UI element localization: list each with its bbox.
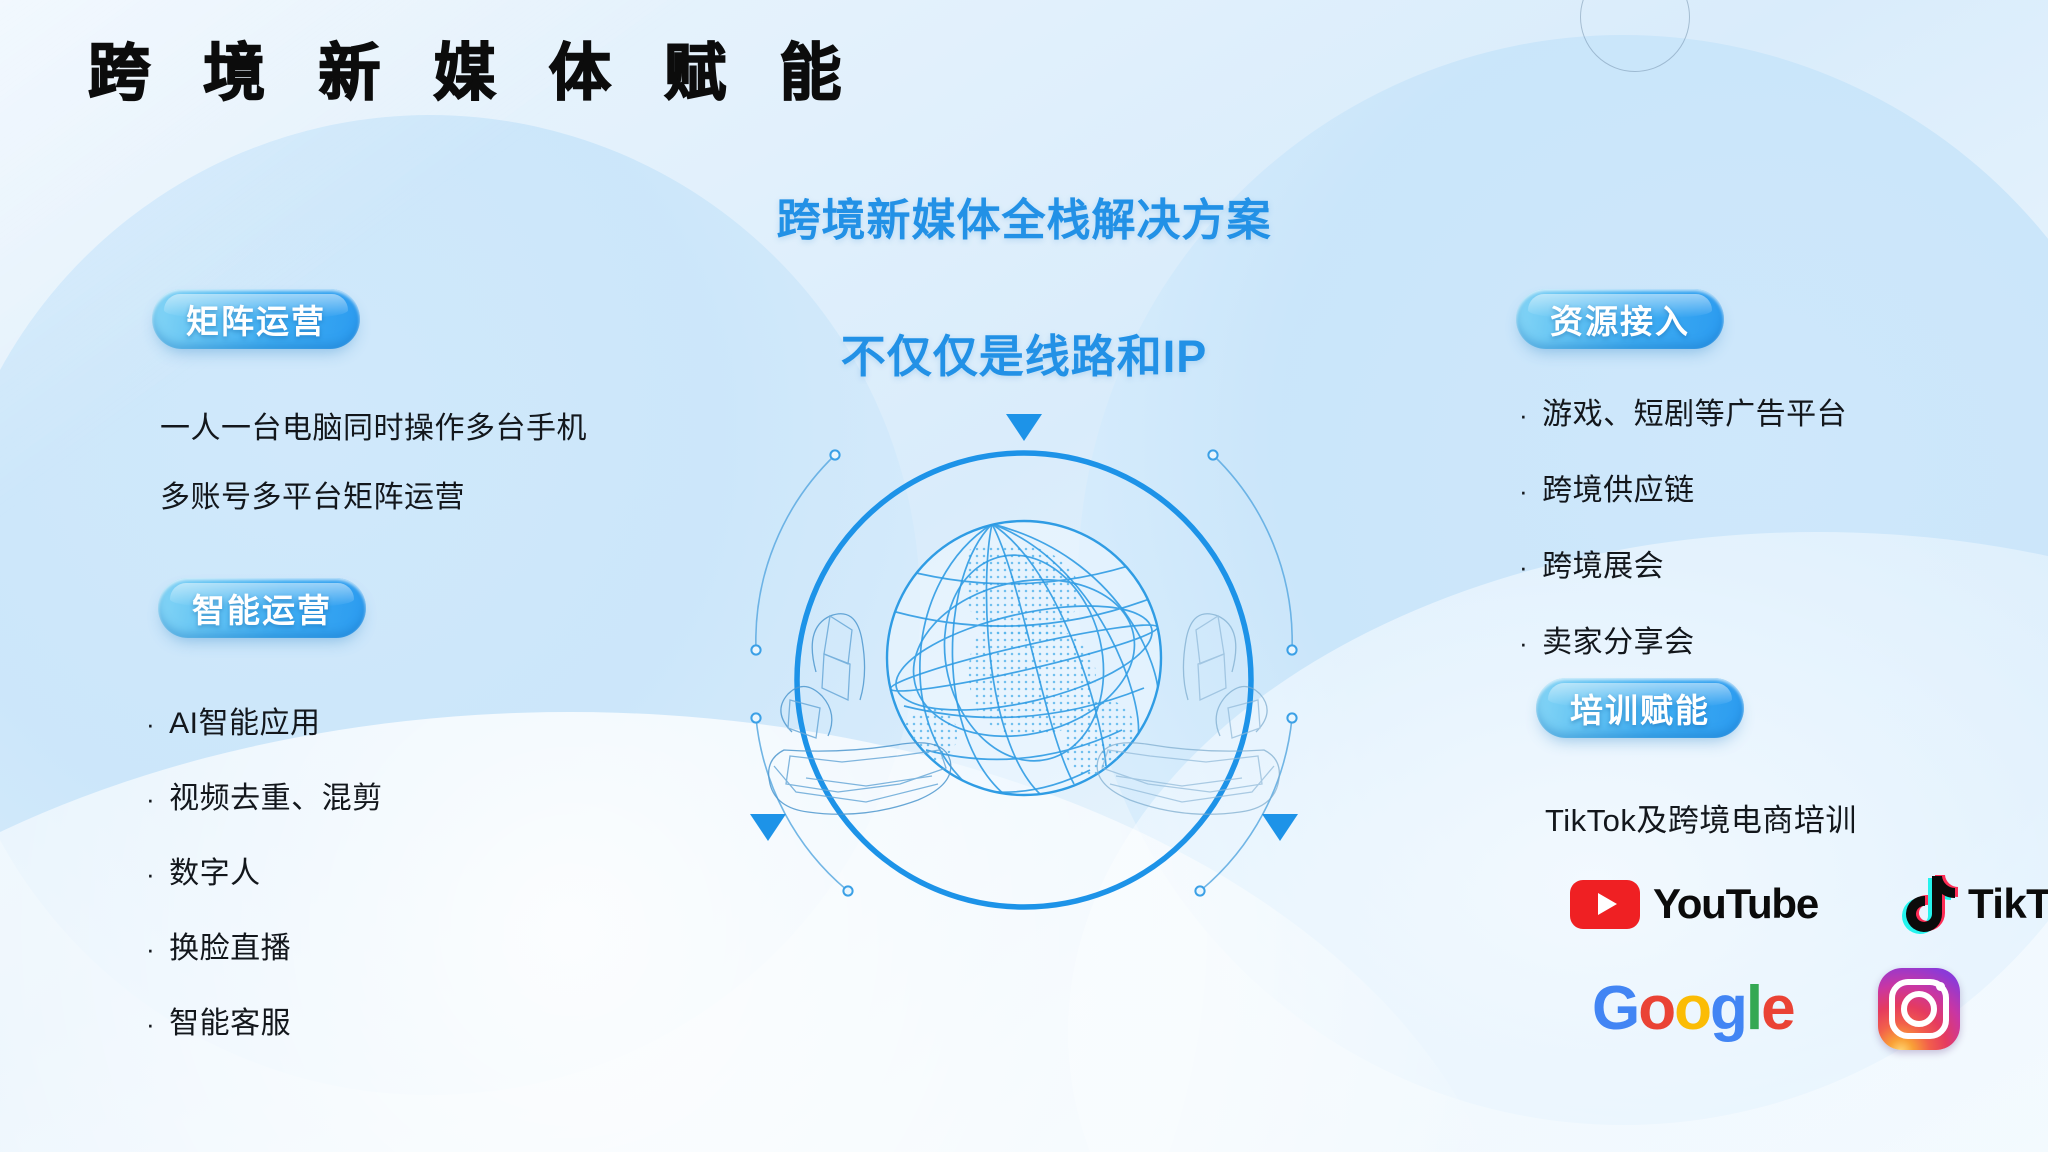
bullet-dot-icon: · <box>1519 630 1528 656</box>
bullet-dot-icon: · <box>1519 478 1528 504</box>
tiktok-logo[interactable]: TikTok <box>1902 874 2048 934</box>
bullet-dot-icon: · <box>146 936 155 962</box>
list-item: · AI智能应用 <box>146 698 383 742</box>
youtube-play-icon <box>1570 880 1640 929</box>
right-resource-list: · 游戏、短剧等广告平台 · 跨境供应链 · 跨境展会 · 卖家分享会 <box>1519 389 1847 661</box>
list-item: · 跨境展会 <box>1519 541 1847 585</box>
pill-resource-access[interactable]: 资源接入 <box>1516 289 1724 349</box>
google-letter-3: o <box>1674 974 1710 1043</box>
pill-label: 智能运营 <box>192 584 332 632</box>
list-item-label: 视频去重、混剪 <box>169 773 383 817</box>
list-item: · 换脸直播 <box>146 923 383 967</box>
list-item-label: 换脸直播 <box>169 923 291 967</box>
list-item-label: AI智能应用 <box>169 698 320 742</box>
google-letter-5: l <box>1746 974 1761 1043</box>
logo-row-top: YouTube TikTok <box>1570 874 2048 934</box>
list-item-label: 卖家分享会 <box>1542 617 1695 661</box>
training-description: TikTok及跨境电商培训 <box>1545 795 1857 840</box>
bullet-dot-icon: · <box>146 1011 155 1037</box>
bullet-dot-icon: · <box>146 786 155 812</box>
instagram-logo[interactable] <box>1878 968 1960 1050</box>
list-item: · 数字人 <box>146 848 383 892</box>
list-item: · 视频去重、混剪 <box>146 773 383 817</box>
pill-label: 培训赋能 <box>1570 684 1710 732</box>
pill-smart-operations[interactable]: 智能运营 <box>158 578 366 638</box>
center-heading-primary: 跨境新媒体全栈解决方案 <box>0 184 2048 248</box>
youtube-logo[interactable]: YouTube <box>1570 880 1818 929</box>
list-item-label: 游戏、短剧等广告平台 <box>1542 389 1847 433</box>
left-text-line-2: 多账号多平台矩阵运营 <box>160 472 465 516</box>
wireframe-globe <box>868 521 1162 796</box>
tiktok-note-icon <box>1902 874 1958 934</box>
globe-in-hands-illustration <box>744 400 1304 960</box>
left-text-line-1: 一人一台电脑同时操作多台手机 <box>160 403 587 447</box>
list-item-label: 数字人 <box>169 848 261 892</box>
pill-label: 资源接入 <box>1550 295 1690 343</box>
google-letter-1: G <box>1592 974 1638 1043</box>
tiktok-wordmark: TikTok <box>1968 880 2048 928</box>
list-item-label: 智能客服 <box>169 998 291 1042</box>
google-letter-4: g <box>1710 974 1746 1043</box>
bullet-dot-icon: · <box>146 861 155 887</box>
list-item: · 智能客服 <box>146 998 383 1042</box>
pill-training-empowerment[interactable]: 培训赋能 <box>1536 678 1744 738</box>
instagram-camera-icon <box>1889 979 1949 1039</box>
left-feature-list: · AI智能应用 · 视频去重、混剪 · 数字人 · 换脸直播 · 智能客服 <box>146 698 383 1042</box>
youtube-wordmark: YouTube <box>1653 880 1818 928</box>
page-title: 跨 境 新 媒 体 赋 能 <box>88 38 859 109</box>
logo-row-bottom: Google <box>1592 968 1960 1050</box>
list-item: · 跨境供应链 <box>1519 465 1847 509</box>
list-item: · 卖家分享会 <box>1519 617 1847 661</box>
slide-root: 跨 境 新 媒 体 赋 能 跨境新媒体全栈解决方案 不仅仅是线路和IP <box>0 0 2048 1152</box>
bullet-dot-icon: · <box>1519 402 1528 428</box>
google-letter-2: o <box>1638 974 1674 1043</box>
pill-label: 矩阵运营 <box>186 295 326 343</box>
bullet-dot-icon: · <box>1519 554 1528 580</box>
bullet-dot-icon: · <box>146 711 155 737</box>
list-item-label: 跨境供应链 <box>1542 465 1695 509</box>
pill-matrix-operations[interactable]: 矩阵运营 <box>152 289 360 349</box>
list-item: · 游戏、短剧等广告平台 <box>1519 389 1847 433</box>
google-logo[interactable]: Google <box>1592 978 1794 1040</box>
google-letter-6: e <box>1761 974 1793 1043</box>
list-item-label: 跨境展会 <box>1542 541 1664 585</box>
